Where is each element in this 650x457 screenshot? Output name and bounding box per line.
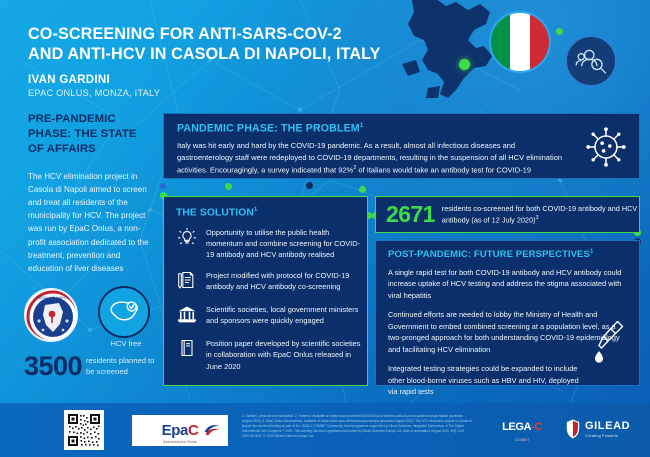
pandemic-heading-text: PANDEMIC PHASE: THE PROBLEM: [177, 123, 360, 135]
epac-logo: EpaC Associazione Onlus: [132, 415, 228, 446]
post-pandemic-panel: POST-PANDEMIC: FUTURE PERSPECTIVES1 A si…: [375, 240, 640, 386]
post-pandemic-paragraph: A single rapid test for both COVID-19 an…: [388, 267, 626, 301]
connector-node-dot: [225, 183, 232, 190]
page-title: CO-SCREENING FOR ANTI-SARS-COV-2 AND ANT…: [28, 25, 428, 65]
list-item: Project modified with protocol for COVID…: [174, 269, 362, 294]
people-magnifier-icon: [565, 35, 617, 87]
pandemic-body: Italy was hit early and hard by the COVI…: [177, 140, 572, 176]
co-screened-stat-panel: 2671 residents co-screened for both COVI…: [375, 196, 640, 233]
list-item: Position paper developed by scientific s…: [174, 337, 362, 371]
epac-logo-subtitle: Associazione Onlus: [132, 440, 228, 444]
post-pandemic-heading: POST-PANDEMIC: FUTURE PERSPECTIVES1: [388, 249, 593, 260]
location-dot-icon: [459, 59, 470, 70]
author-name: IVAN GARDINI: [28, 74, 110, 86]
co-screened-number: 2671: [376, 201, 435, 228]
connector-node-dot: [160, 183, 166, 189]
pre-pandemic-body: The HCV elimination project in Casola di…: [28, 170, 154, 275]
lega-c-logo: LEGA-C COMMIT: [492, 416, 552, 446]
lega-c-logo-text: LEGA-C: [502, 421, 542, 433]
qr-code-icon[interactable]: [64, 410, 104, 450]
solution-heading-text: THE SOLUTION: [176, 207, 254, 218]
co-screened-caption-ref: 3: [535, 215, 538, 221]
poster-header: CO-SCREENING FOR ANTI-SARS-COV-2 AND ANT…: [0, 0, 650, 108]
lega-logo-sub: COMMIT: [515, 438, 530, 442]
epac-logo-part1: Epa: [162, 422, 188, 439]
hcv-free-group: CASOLA DI NAPOLI HCV free: [22, 286, 162, 348]
solution-list: Opportunity to utilise the public health…: [174, 226, 362, 381]
co-screened-caption: residents co-screened for both COVID-19 …: [435, 203, 639, 225]
italian-flag-icon: [489, 11, 551, 73]
liver-check-icon: [98, 286, 150, 338]
poster-root: CO-SCREENING FOR ANTI-SARS-COV-2 AND ANT…: [0, 0, 650, 457]
solution-heading: THE SOLUTION1: [176, 206, 257, 218]
epac-swoosh-icon: [202, 421, 220, 439]
list-item: Scientific societies, local government m…: [174, 303, 362, 328]
casola-di-napoli-badge-icon: CASOLA DI NAPOLI: [24, 288, 78, 342]
post-pandemic-body: A single rapid test for both COVID-19 an…: [388, 267, 626, 406]
pre-pandemic-heading: PRE-PANDEMIC PHASE: THE STATE OF AFFAIRS: [28, 112, 150, 157]
pandemic-phase-panel: PANDEMIC PHASE: THE PROBLEM1 Italy was h…: [163, 113, 640, 179]
lega-logo-accent: -C: [531, 421, 542, 433]
hcv-free-label: HCV free: [94, 339, 158, 348]
connector-node-dot: [306, 182, 313, 189]
lega-logo-main: LEGA: [502, 421, 531, 433]
post-pandemic-heading-text: POST-PANDEMIC: FUTURE PERSPECTIVES: [388, 249, 590, 260]
poster-footer: EpaC Associazione Onlus 1. Gardini I, pe…: [0, 403, 650, 457]
connector-node-dot: [359, 186, 366, 193]
gilead-logo-name: GILEAD: [585, 421, 630, 432]
epac-logo-text: EpaC: [162, 423, 199, 438]
post-pandemic-paragraph: Integrated testing strategies could be e…: [388, 363, 584, 397]
list-item-label: Opportunity to utilise the public health…: [206, 226, 362, 260]
title-line-1: CO-SCREENING FOR ANTI-SARS-COV-2: [28, 25, 428, 45]
co-screened-caption-text: residents co-screened for both COVID-19 …: [442, 204, 638, 224]
gilead-logo: GILEAD Creating Possible: [566, 419, 630, 439]
document-pen-icon: [174, 269, 199, 294]
pre-pandemic-section: PRE-PANDEMIC PHASE: THE STATE OF AFFAIRS…: [0, 108, 160, 403]
list-item-label: Position paper developed by scientific s…: [206, 337, 362, 371]
list-item-label: Scientific societies, local government m…: [206, 303, 362, 328]
gilead-logo-tagline: Creating Possible: [585, 434, 630, 438]
planned-screened-number: 3500: [24, 351, 82, 382]
pandemic-body-part2: of Italians would take an antibody test …: [356, 165, 531, 174]
lightbulb-icon: [174, 226, 199, 251]
post-pandemic-heading-ref: 1: [590, 249, 593, 255]
connector-node-dot: [556, 28, 563, 35]
svg-text:CASOLA DI NAPOLI: CASOLA DI NAPOLI: [36, 296, 69, 300]
coronavirus-icon: [585, 126, 627, 168]
post-pandemic-paragraph: Continued efforts are needed to lobby th…: [388, 309, 626, 355]
pandemic-heading-ref: 1: [360, 122, 364, 129]
solution-panel: THE SOLUTION1 Opportunity to utilise the…: [163, 196, 368, 386]
title-line-2: AND ANTI-HCV IN CASOLA DI NAPOLI, ITALY: [28, 45, 428, 65]
list-item: Opportunity to utilise the public health…: [174, 226, 362, 260]
gilead-shield-icon: [566, 419, 580, 439]
author-affiliation: EPAC ONLUS, MONZA, ITALY: [28, 88, 160, 98]
pipette-drop-icon: [595, 319, 625, 365]
references-text: 1. Gardini I, personal communication. 2.…: [242, 414, 472, 438]
solution-heading-ref: 1: [254, 206, 258, 213]
institution-icon: [174, 303, 199, 328]
book-icon: [174, 337, 199, 362]
pandemic-heading: PANDEMIC PHASE: THE PROBLEM1: [177, 122, 364, 135]
planned-screened-caption: residents planned to be screened: [86, 355, 160, 377]
epac-logo-part2: C: [188, 422, 198, 439]
list-item-label: Project modified with protocol for COVID…: [206, 269, 362, 294]
